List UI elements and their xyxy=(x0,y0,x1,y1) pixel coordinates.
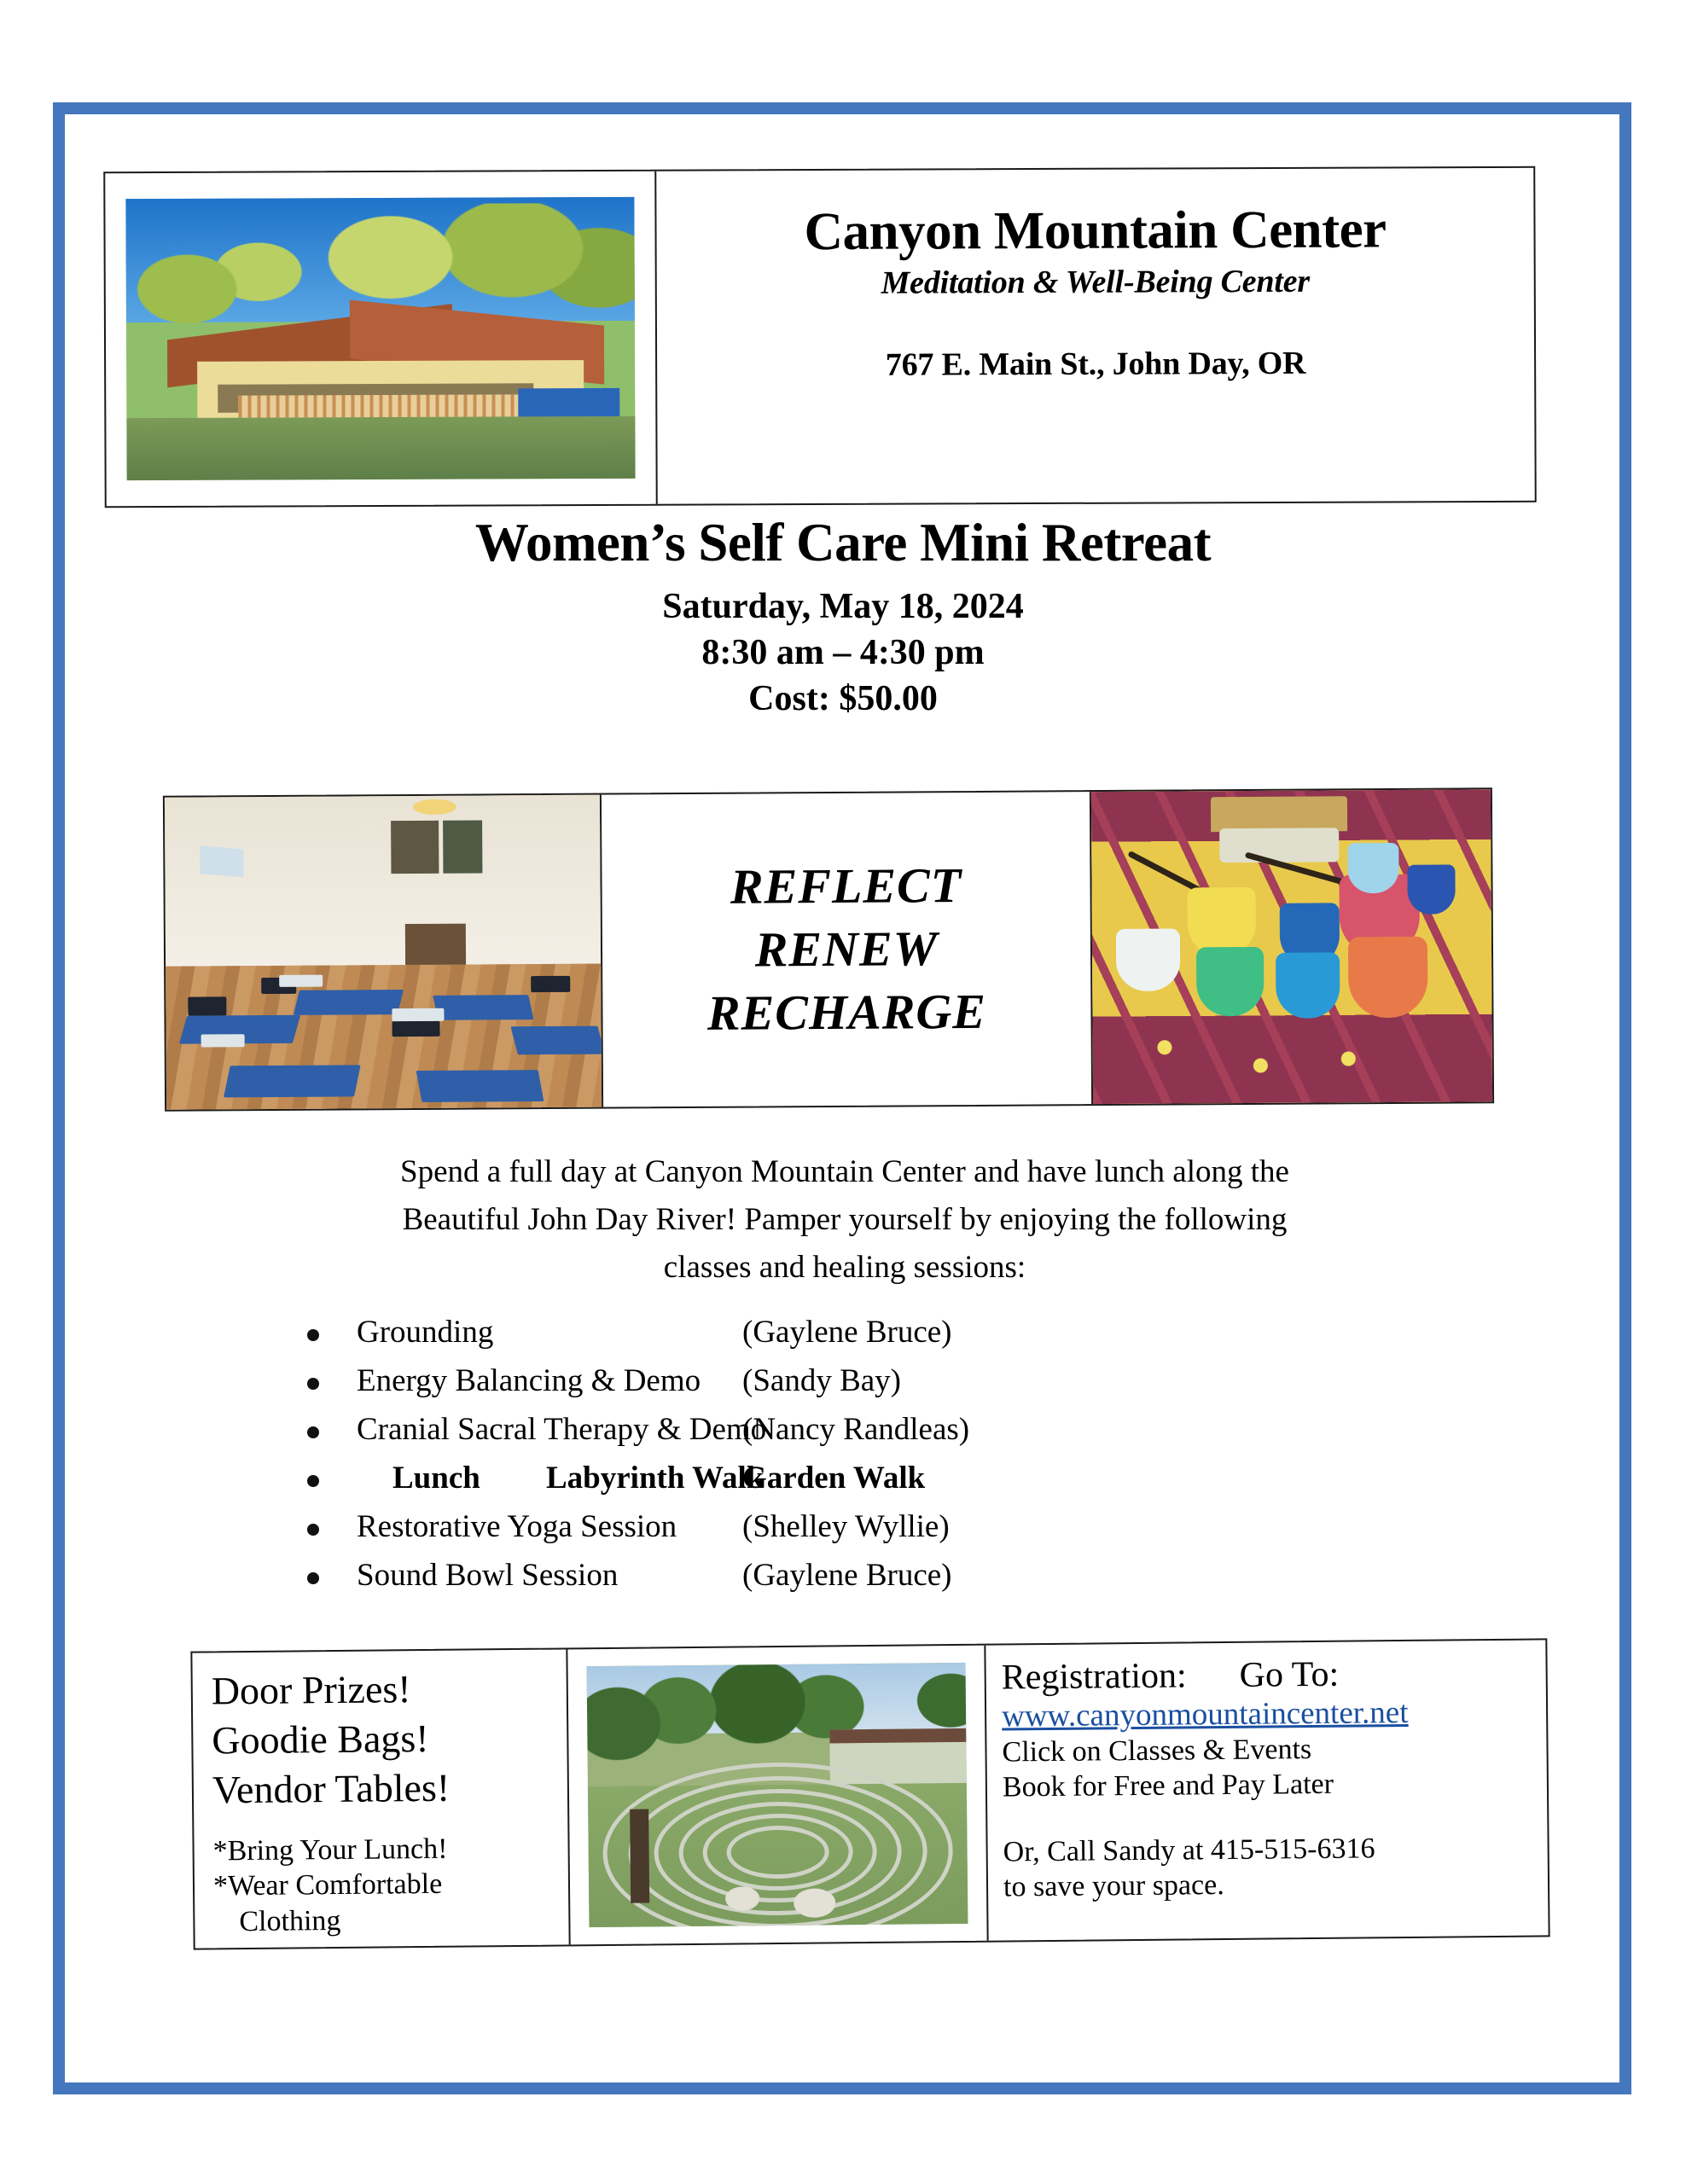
class-list: Grounding (Gaylene Bruce) Energy Balanci… xyxy=(282,1314,1305,1606)
event-cost: Cost: $50.00 xyxy=(0,678,1686,719)
class-name: Cranial Sacral Therapy & Demo xyxy=(357,1411,766,1448)
flyer-page: Canyon Mountain Center Meditation & Well… xyxy=(0,0,1686,2184)
registration-phone-block: Or, Call Sandy at 415-515-6316 to save y… xyxy=(1003,1829,1548,1905)
canyon-mountain-center-building-photo xyxy=(125,197,635,480)
registration-step-2: Book for Free and Pay Later xyxy=(1003,1765,1547,1806)
class-name: Sound Bowl Session xyxy=(357,1557,618,1594)
bottom-info-table: Door Prizes! Goodie Bags! Vendor Tables!… xyxy=(190,1638,1549,1949)
class-name: Energy Balancing & Demo xyxy=(357,1362,701,1399)
perk-vendor-tables: Vendor Tables! xyxy=(212,1762,568,1815)
organization-address: 767 E. Main St., John Day, OR xyxy=(657,344,1534,385)
crystal-singing-bowls-photo xyxy=(1091,789,1492,1104)
event-time: 8:30 am – 4:30 pm xyxy=(0,632,1686,673)
note-clothing: Clothing xyxy=(213,1901,568,1939)
list-item: Grounding (Gaylene Bruce) xyxy=(282,1314,1305,1362)
stone-labyrinth-garden-photo xyxy=(587,1663,968,1927)
event-title: Women’s Self Care Mini Retreat xyxy=(0,512,1686,574)
bullet-icon xyxy=(307,1475,319,1487)
garden-walk-label: Garden Walk xyxy=(742,1460,925,1496)
registration-step-1: Click on Classes & Events xyxy=(1002,1729,1546,1770)
class-facilitator: (Gaylene Bruce) xyxy=(742,1557,952,1594)
perk-goodie-bags: Goodie Bags! xyxy=(212,1712,567,1765)
class-facilitator: (Sandy Bay) xyxy=(742,1362,901,1399)
class-name: Restorative Yoga Session xyxy=(357,1508,677,1545)
bullet-icon xyxy=(307,1378,319,1390)
slogan-line-reflect: REFLECT xyxy=(730,854,962,919)
organization-title: Canyon Mountain Center xyxy=(656,200,1533,260)
labyrinth-walk-label: Labyrinth Walk xyxy=(546,1460,764,1496)
perk-door-prizes: Door Prizes! xyxy=(212,1663,567,1716)
list-item-lunch: Lunch Labyrinth Walk Garden Walk xyxy=(282,1460,1305,1508)
bullet-icon xyxy=(307,1426,319,1438)
header-table: Canyon Mountain Center Meditation & Well… xyxy=(103,166,1537,508)
description-line-1: Spend a full day at Canyon Mountain Cent… xyxy=(290,1148,1399,1196)
header-text-cell: Canyon Mountain Center Meditation & Well… xyxy=(656,168,1534,504)
perks-cell: Door Prizes! Goodie Bags! Vendor Tables!… xyxy=(192,1649,570,1948)
organization-subtitle: Meditation & Well-Being Center xyxy=(657,262,1534,303)
description-line-3: classes and healing sessions: xyxy=(290,1244,1399,1292)
event-title-block: Women’s Self Care Mini Retreat Saturday,… xyxy=(0,512,1686,719)
registration-phone-note: to save your space. xyxy=(1003,1865,1548,1906)
slogan-photo-table: REFLECT RENEW RECHARGE xyxy=(163,787,1494,1112)
yoga-room-cell xyxy=(165,795,603,1110)
class-facilitator: (Gaylene Bruce) xyxy=(742,1314,952,1350)
slogan-cell: REFLECT RENEW RECHARGE xyxy=(602,792,1093,1107)
description-paragraph: Spend a full day at Canyon Mountain Cent… xyxy=(290,1148,1399,1292)
note-wear-comfortable: *Wear Comfortable xyxy=(213,1866,568,1904)
list-item: Restorative Yoga Session (Shelley Wyllie… xyxy=(282,1508,1305,1557)
go-to-label: Go To: xyxy=(1239,1655,1339,1695)
event-date: Saturday, May 18, 2024 xyxy=(0,586,1686,627)
registration-url-link[interactable]: www.canyonmountaincenter.net xyxy=(1002,1693,1546,1734)
slogan-line-recharge: RECHARGE xyxy=(707,980,987,1045)
class-facilitator: (Shelley Wyllie) xyxy=(742,1508,950,1545)
yoga-room-with-mats-photo xyxy=(165,795,602,1110)
registration-cell: Registration:Go To: www.canyonmountaince… xyxy=(985,1640,1548,1940)
slogan-line-renew: RENEW xyxy=(755,917,939,982)
description-line-2: Beautiful John Day River! Pamper yoursel… xyxy=(290,1196,1399,1244)
registration-label: Registration: xyxy=(1001,1656,1186,1697)
bullet-icon xyxy=(307,1572,319,1584)
list-item: Sound Bowl Session (Gaylene Bruce) xyxy=(282,1557,1305,1606)
header-photo-cell xyxy=(105,171,657,506)
class-facilitator: (Nancy Randleas) xyxy=(742,1411,969,1448)
perk-notes: *Bring Your Lunch! *Wear Comfortable Clo… xyxy=(212,1830,568,1939)
bullet-icon xyxy=(307,1524,319,1536)
singing-bowls-cell xyxy=(1091,789,1492,1104)
bullet-icon xyxy=(307,1329,319,1341)
list-item: Energy Balancing & Demo (Sandy Bay) xyxy=(282,1362,1305,1411)
class-name: Grounding xyxy=(357,1314,493,1350)
registration-phone: Or, Call Sandy at 415-515-6316 xyxy=(1003,1829,1547,1870)
note-bring-lunch: *Bring Your Lunch! xyxy=(212,1830,567,1868)
labyrinth-photo-cell xyxy=(567,1646,988,1945)
registration-heading: Registration:Go To: xyxy=(1001,1652,1545,1698)
lunch-label: Lunch xyxy=(392,1460,480,1496)
list-item: Cranial Sacral Therapy & Demo (Nancy Ran… xyxy=(282,1411,1305,1460)
